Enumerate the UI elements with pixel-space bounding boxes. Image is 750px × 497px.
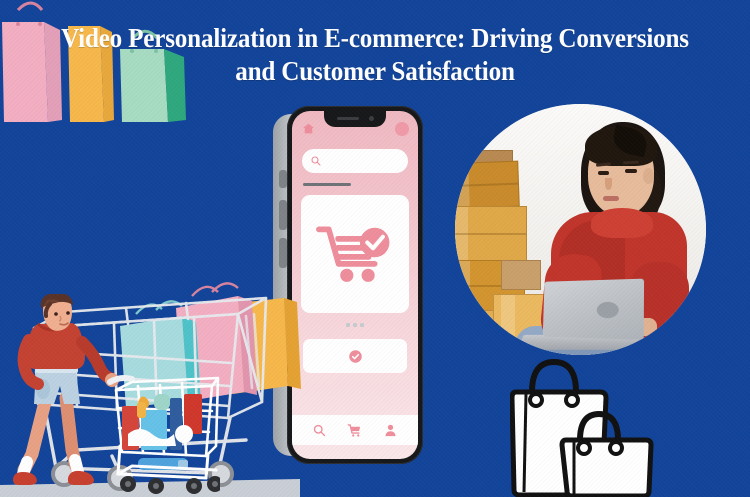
phone-volume-up-button[interactable] — [279, 200, 287, 230]
home-icon[interactable] — [302, 122, 315, 135]
nav-person-icon[interactable] — [383, 423, 398, 438]
section-divider — [303, 183, 351, 186]
circle-badge-icon[interactable] — [395, 122, 409, 136]
shopper-legs — [13, 398, 94, 485]
phone-volume-down-button[interactable] — [279, 238, 287, 268]
carousel-dot[interactable] — [353, 323, 357, 327]
banner-canvas: Video Personalization in E-commerce: Dri… — [0, 0, 750, 497]
phone-mute-button[interactable] — [279, 170, 287, 188]
title-line-2: and Customer Satisfaction — [26, 55, 724, 88]
check-circle-icon — [348, 349, 363, 364]
speaker-icon — [337, 117, 359, 120]
camera-icon — [369, 116, 374, 121]
grocery-items — [122, 394, 202, 470]
carousel-dot[interactable] — [360, 323, 364, 327]
page-title: Video Personalization in E-commerce: Dri… — [26, 22, 724, 88]
carousel-dot[interactable] — [346, 323, 350, 327]
carousel-dots[interactable] — [346, 323, 364, 327]
paper-bags-group — [510, 356, 660, 497]
phone-notch — [324, 111, 386, 127]
laptop — [521, 280, 645, 355]
title-line-1: Video Personalization in E-commerce: Dri… — [26, 22, 724, 55]
search-input[interactable] — [302, 149, 408, 173]
photo-circle: Woman in red turtleneck sitting cross-le… — [455, 104, 706, 355]
shopper-alt-text — [186, 0, 187, 1]
nav-cart-icon[interactable] — [347, 423, 362, 438]
shopper-illustration — [10, 294, 220, 497]
grocery-cart — [110, 378, 220, 494]
search-icon — [310, 155, 322, 167]
